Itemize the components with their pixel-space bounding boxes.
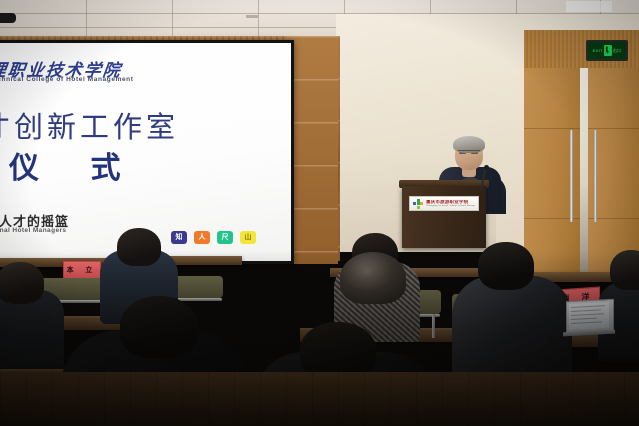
photo-scene: EXIT 出口 理职业技术学院 Technical College of Hot… — [0, 0, 639, 426]
exit-label-right: 出口 — [613, 49, 622, 53]
ceiling-light — [566, 1, 612, 12]
door-handle-left[interactable] — [570, 130, 573, 222]
microphone-head — [484, 165, 489, 170]
name-card-text: 本 立 — [67, 267, 98, 274]
chair-leg — [432, 314, 435, 338]
slide-badge-glyph: 尺 — [222, 234, 229, 241]
emergency-exit-sign: EXIT 出口 — [586, 40, 628, 61]
slide-badge-3: 尺 — [217, 231, 233, 244]
projector-mount — [0, 13, 16, 23]
attendee-head — [610, 250, 639, 290]
slide-title-line2: 仪 式 — [9, 143, 289, 187]
slide-header-english: Technical College of Hotel Management — [0, 76, 189, 83]
running-man-icon — [604, 45, 612, 56]
slide-badge-glyph: 人 — [199, 234, 206, 241]
floor — [0, 372, 639, 426]
slide-badge-glyph: 山 — [245, 234, 252, 241]
door-gap-light — [580, 68, 588, 282]
slide-badge-row: 知人尺山 — [171, 231, 256, 244]
laptop-screen[interactable] — [569, 302, 609, 330]
slide-badge-1: 知 — [171, 231, 187, 244]
college-logo-icon — [413, 199, 423, 209]
slide-badge-2: 人 — [194, 231, 210, 244]
attendee-fur-hood — [340, 252, 406, 304]
slide-badge-glyph: 知 — [176, 234, 183, 241]
exit-label-left: EXIT — [593, 49, 603, 53]
slide-badge-4: 山 — [240, 231, 256, 244]
slide-title-line1: 才创新工作室 — [0, 104, 281, 146]
attendee-head — [0, 262, 44, 304]
speaker-glasses — [458, 150, 480, 155]
slide-footer-english: ssional Hotel Managers — [0, 227, 185, 234]
podium-sign-english: Chongqing Technical College of Hotel Man… — [426, 205, 475, 207]
ceiling-vent — [246, 15, 258, 18]
attendee-foreground-head — [120, 296, 198, 358]
attendee-head — [117, 228, 161, 266]
door-handle-right[interactable] — [594, 130, 597, 222]
podium-sign: 重庆市旅游职业学院 Chongqing Technical College of… — [409, 196, 479, 211]
attendee-head — [478, 242, 534, 290]
